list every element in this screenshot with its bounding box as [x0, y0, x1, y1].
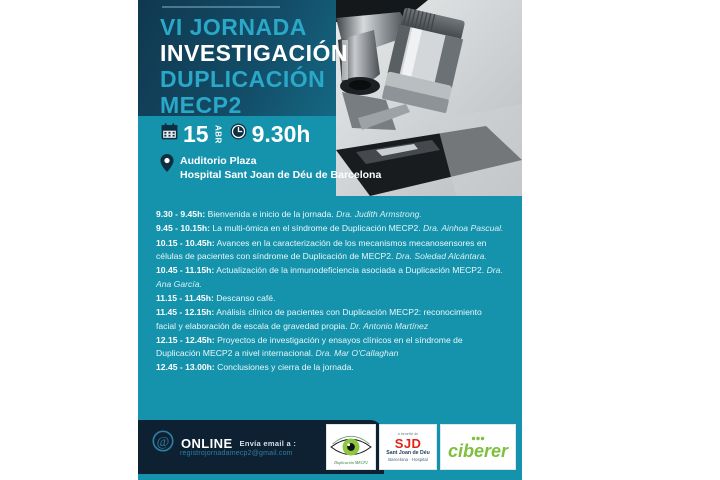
title-line-3: DUPLICACIÓN — [160, 66, 390, 92]
ciberer-wordmark: ciberer — [448, 442, 508, 460]
venue-text: Auditorio Plaza Hospital Sant Joan de Dé… — [180, 154, 381, 182]
programme-item-text: La multi-ómica en el síndrome de Duplica… — [210, 223, 421, 233]
programme-item-speaker: Dr. Antonio Martínez — [348, 321, 429, 331]
programme-item-speaker: Dra. Mar O'Callaghan — [313, 348, 398, 358]
programme-item-time: 9.45 - 10.15h: — [156, 223, 210, 233]
programme-item-time: 11.15 - 11.45h: — [156, 293, 214, 303]
programme-item-time: 10.15 - 10.45h: — [156, 238, 215, 248]
event-datetime: 15 ABR 9.30h — [160, 122, 310, 146]
programme-item-speaker: Dra. Judith Armstrong. — [334, 209, 422, 219]
programme-item: 10.45 - 11.15h: Actualización de la inmu… — [156, 264, 504, 291]
event-venue: Auditorio Plaza Hospital Sant Joan de Dé… — [160, 154, 381, 182]
screenshot-canvas: VI JORNADA INVESTIGACIÓN DUPLICACIÓN MEC… — [0, 0, 720, 480]
programme-item: 12.45 - 13.00h: Conclusiones y cierra de… — [156, 361, 504, 374]
programme-item-text: Bienvenida e inicio de la jornada. — [205, 209, 334, 219]
eye-logo: Duplicación MECP2 — [326, 424, 376, 470]
email-instruction: Envía email a : — [240, 439, 297, 448]
programme-item-speaker: Dra. Soledad Alcántara. — [393, 251, 486, 261]
sponsor-logos: Duplicación MECP2 a benefici de SJD Sant… — [326, 424, 516, 470]
programme-item-time: 9.30 - 9.45h: — [156, 209, 205, 219]
programme-item: 11.15 - 11.45h: Descanso café. — [156, 292, 504, 305]
ciberer-logo: ciberer — [440, 424, 516, 470]
programme-item-time: 12.15 - 12.45h: — [156, 335, 215, 345]
location-pin-icon — [160, 154, 174, 177]
calendar-icon — [160, 122, 179, 146]
poster-header: VI JORNADA INVESTIGACIÓN DUPLICACIÓN MEC… — [138, 0, 522, 196]
programme-list: 9.30 - 9.45h: Bienvenida e inicio de la … — [156, 208, 504, 375]
programme-section: 9.30 - 9.45h: Bienvenida e inicio de la … — [138, 196, 522, 420]
event-month: ABR — [214, 125, 222, 144]
poster-title-block: VI JORNADA INVESTIGACIÓN DUPLICACIÓN MEC… — [160, 14, 390, 118]
poster-footer: @ ONLINE Envía email a : registrojornada… — [138, 420, 522, 480]
sjd-subname: Barcelona · Hospital — [388, 457, 428, 462]
at-sign-icon: @ — [152, 430, 174, 457]
programme-item-time: 12.45 - 13.00h: — [156, 362, 215, 372]
programme-item-text: Descanso café. — [214, 293, 276, 303]
title-rule — [162, 6, 280, 8]
event-time: 9.30h — [252, 123, 311, 146]
programme-item-time: 10.45 - 11.15h: — [156, 265, 214, 275]
sjd-acronym: SJD — [395, 437, 422, 450]
title-line-2: INVESTIGACIÓN — [160, 40, 390, 66]
title-line-4: MECP2 — [160, 92, 390, 118]
programme-item: 11.45 - 12.15h: Análisis clínico de paci… — [156, 306, 504, 333]
event-day: 15 — [183, 123, 209, 146]
svg-text:@: @ — [157, 434, 170, 449]
sjd-logo: a benefici de SJD Sant Joan de Déu Barce… — [379, 424, 437, 470]
venue-line-2: Hospital Sant Joan de Déu de Barcelona — [180, 169, 381, 181]
clock-icon — [229, 122, 248, 146]
programme-item-speaker: Dra. Ainhoa Pascual. — [421, 223, 504, 233]
online-label: ONLINE — [181, 436, 233, 451]
programme-item-time: 11.45 - 12.15h: — [156, 307, 214, 317]
venue-line-1: Auditorio Plaza — [180, 155, 256, 167]
eye-logo-svg: Duplicación MECP2 — [328, 427, 374, 467]
programme-item: 12.15 - 12.45h: Proyectos de investigaci… — [156, 334, 504, 361]
programme-item: 9.45 - 10.15h: La multi-ómica en el sínd… — [156, 222, 504, 235]
title-line-1: VI JORNADA — [160, 14, 390, 40]
programme-item: 9.30 - 9.45h: Bienvenida e inicio de la … — [156, 208, 504, 221]
svg-text:Duplicación MECP2: Duplicación MECP2 — [333, 460, 367, 465]
programme-item-text: Conclusiones y cierra de la jornada. — [215, 362, 354, 372]
programme-item: 10.15 - 10.45h: Avances en la caracteriz… — [156, 237, 504, 264]
event-poster: VI JORNADA INVESTIGACIÓN DUPLICACIÓN MEC… — [138, 0, 522, 480]
contact-email[interactable]: registrojornadamecp2@gmail.com — [180, 450, 293, 457]
programme-item-text: Actualización de la inmunodeficiencia as… — [214, 265, 484, 275]
